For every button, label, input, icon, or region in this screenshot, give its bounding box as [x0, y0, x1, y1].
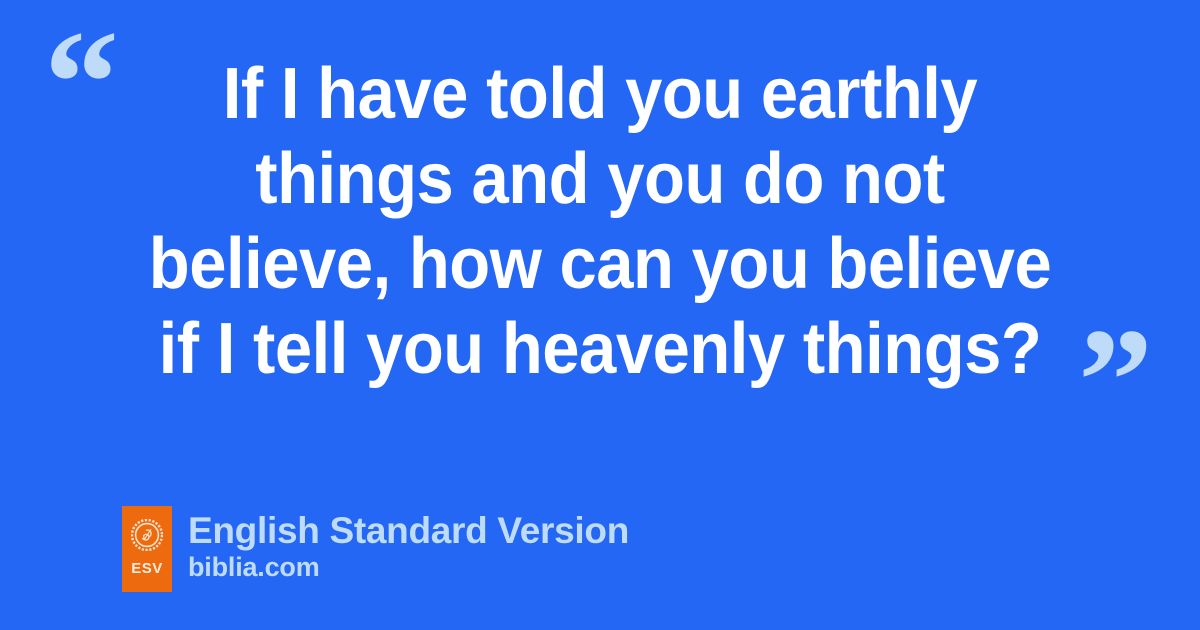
- esv-badge-label: ESV: [131, 561, 163, 576]
- esv-logo-badge[interactable]: ESV: [122, 506, 172, 592]
- attribution-text: English Standard Version biblia.com: [188, 506, 629, 582]
- quote-line: believe, how can you believe: [42, 222, 1158, 307]
- esv-seal-icon: [131, 519, 163, 551]
- quote-text: If I have told you earthly things and yo…: [42, 52, 1158, 392]
- quote-card: “ If I have told you earthly things and …: [0, 0, 1200, 630]
- quote-line: If I have told you earthly: [42, 52, 1158, 137]
- closing-quote-mark-icon: ”: [1078, 306, 1153, 456]
- bible-version-name: English Standard Version: [188, 510, 629, 552]
- quote-line: if I tell you heavenly things?: [42, 307, 1158, 392]
- quote-line: things and you do not: [42, 137, 1158, 222]
- site-url[interactable]: biblia.com: [188, 552, 629, 582]
- attribution[interactable]: ESV English Standard Version biblia.com: [122, 506, 629, 592]
